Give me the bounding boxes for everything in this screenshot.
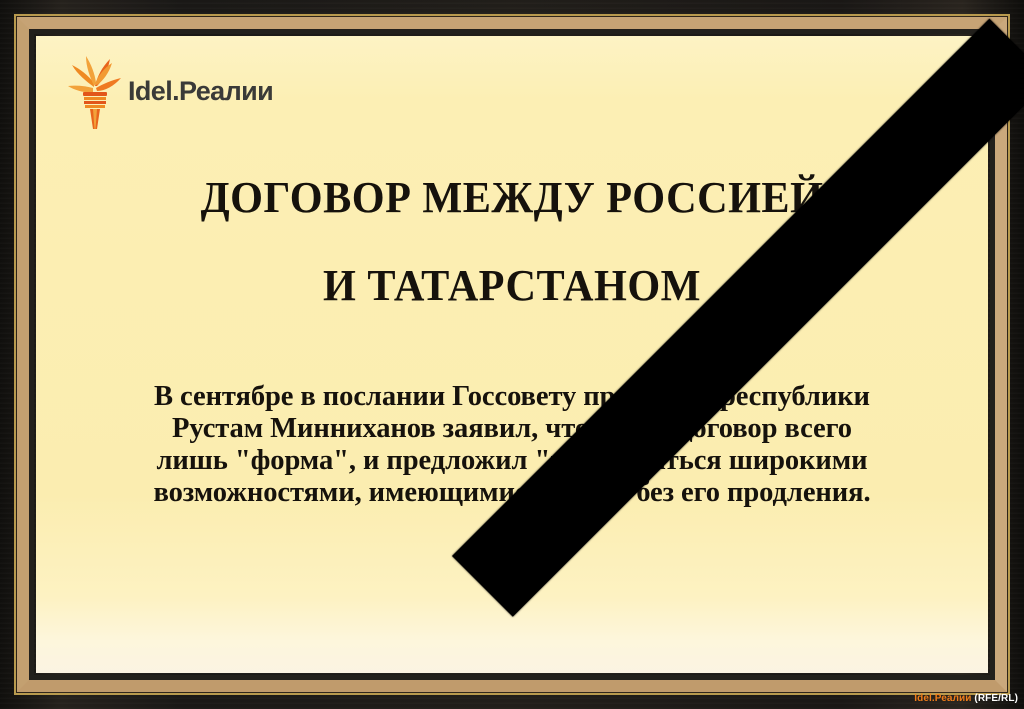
credit-watermark: Idel.Реалии (RFE/RL)	[914, 692, 1018, 706]
body-copy: В сентябре в послании Госсовету президен…	[50, 380, 974, 508]
logo-wordmark: Idel.Реалии	[128, 78, 273, 105]
credit-rest: (RFE/RL)	[972, 693, 1018, 704]
brand-logo: Idel.Реалии	[64, 52, 273, 130]
body-line-3: лишь "форма", и предложил "пользоваться …	[57, 444, 967, 476]
torch-flame-icon	[64, 53, 126, 129]
body-line-2: Рустам Минниханов заявил, что такой дого…	[57, 412, 967, 444]
body-line-1: В сентябре в послании Госсовету президен…	[57, 380, 967, 412]
memorial-poster: Idel.Реалии ДОГОВОР МЕЖДУ РОССИЕЙ И ТАТА…	[0, 0, 1024, 709]
credit-brand: Idel.Реалии	[914, 693, 971, 704]
